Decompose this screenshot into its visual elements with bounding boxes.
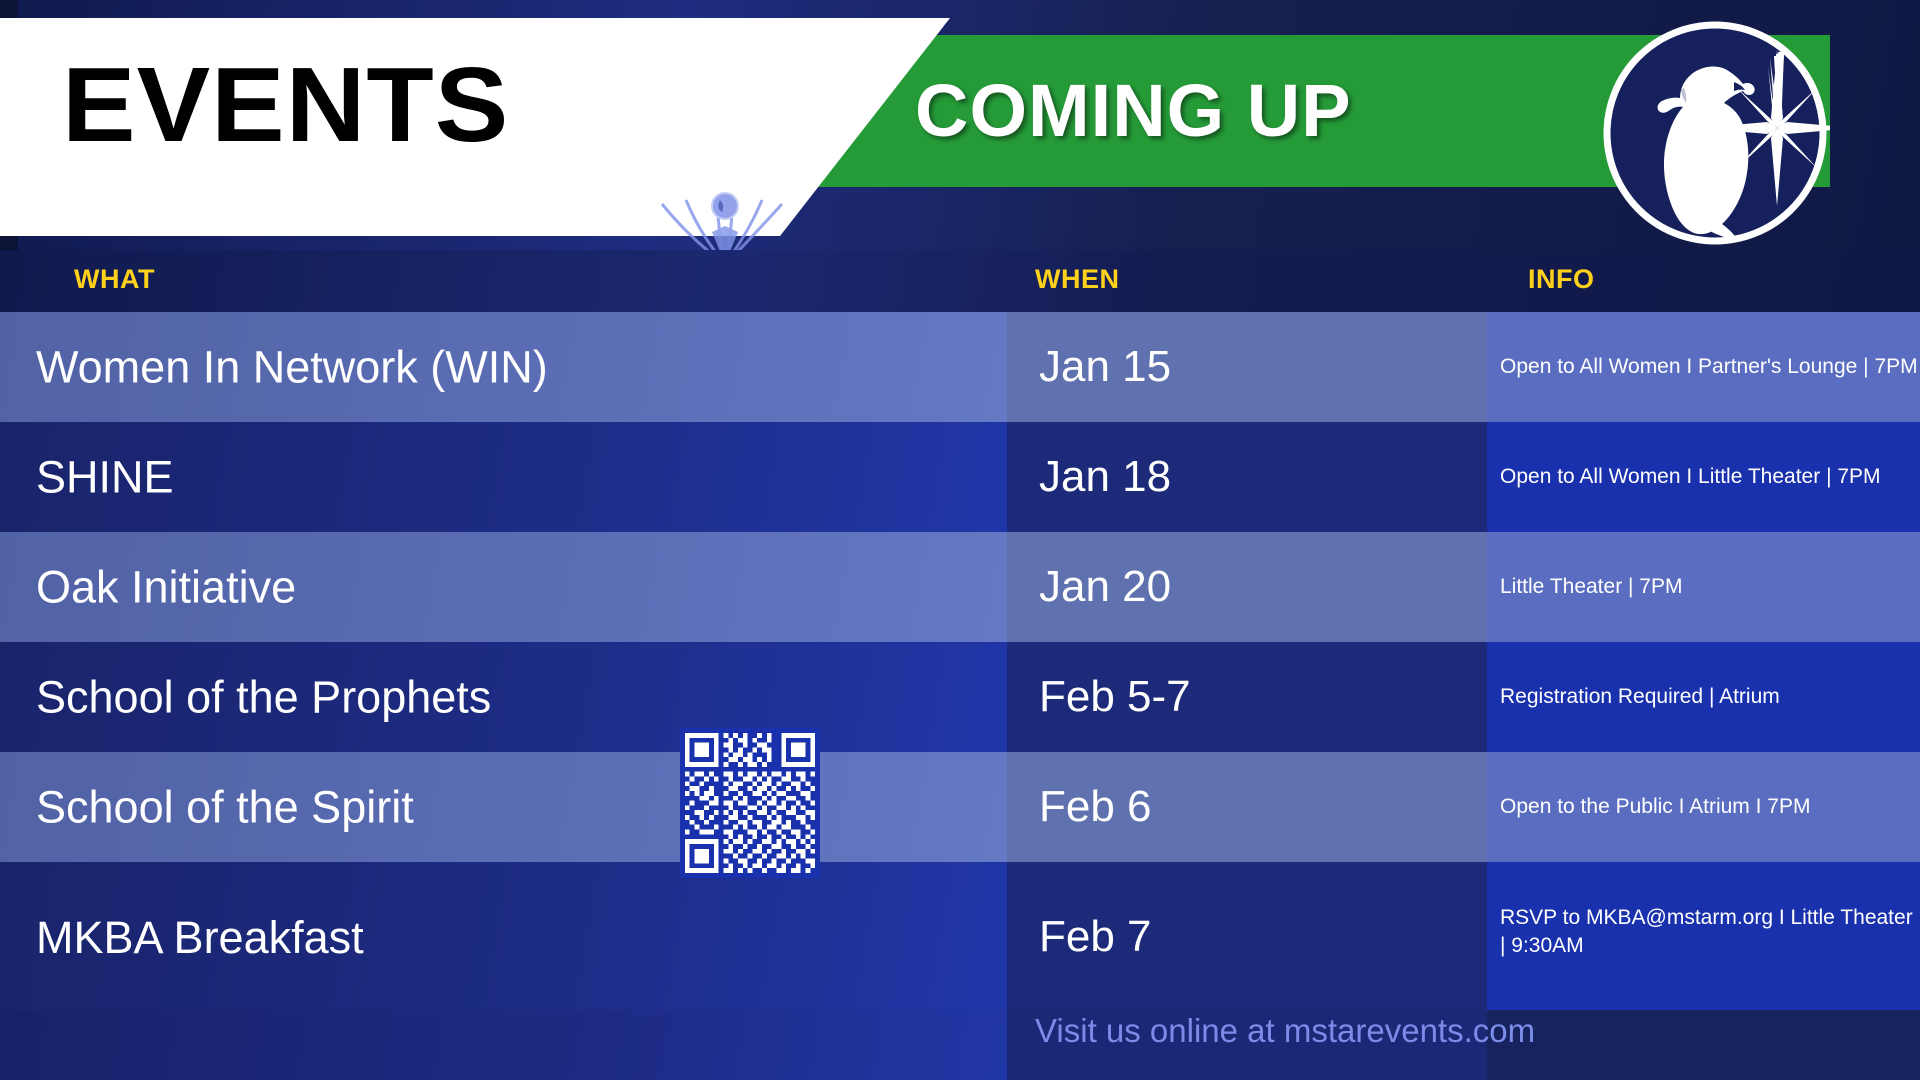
event-date: Feb 7 <box>1039 914 1152 960</box>
column-header-what-label: WHAT <box>74 264 155 294</box>
visit-online-text: Visit us online at mstarevents.com <box>1035 1012 1535 1050</box>
cell-info: Open to the Public I Atrium I 7PM <box>1487 752 1920 862</box>
event-name: School of the Prophets <box>36 673 491 720</box>
cell-info: Registration Required | Atrium <box>1487 642 1920 752</box>
cell-info: Little Theater | 7PM <box>1487 532 1920 642</box>
cell-info: Open to All Women I Little Theater | 7PM <box>1487 422 1920 532</box>
table-row[interactable]: Women In Network (WIN) Jan 15 Open to Al… <box>0 312 1920 422</box>
cell-what: Oak Initiative <box>0 532 1007 642</box>
cell-when: Jan 18 <box>1007 422 1487 532</box>
event-date: Jan 15 <box>1039 344 1171 390</box>
column-header-when-label: WHEN <box>1035 264 1120 294</box>
table-header-row: WHAT WHEN INFO <box>0 250 1920 312</box>
footer-bar <box>0 1010 1920 1080</box>
cell-when: Feb 7 <box>1007 862 1487 1010</box>
footer-left <box>0 1010 1007 1080</box>
event-name: SHINE <box>36 453 174 500</box>
cell-when: Jan 15 <box>1007 312 1487 422</box>
event-name: MKBA Breakfast <box>36 914 364 961</box>
column-header-what: WHAT <box>74 264 155 295</box>
table-row[interactable]: MKBA Breakfast Feb 7 RSVP to MKBA@mstarm… <box>0 862 1920 1010</box>
eagle-star-logo-icon <box>1600 18 1830 248</box>
event-date: Feb 5-7 <box>1039 674 1191 720</box>
event-info: Open to All Women I Partner's Lounge | 7… <box>1500 353 1918 381</box>
event-date: Jan 18 <box>1039 454 1171 500</box>
cell-what: School of the Prophets <box>0 642 1007 752</box>
table-row[interactable]: School of the Spirit Feb 6 Open to the P… <box>0 752 1920 862</box>
event-info: Open to the Public I Atrium I 7PM <box>1500 793 1918 821</box>
table-row[interactable]: Oak Initiative Jan 20 Little Theater | 7… <box>0 532 1920 642</box>
event-name: Oak Initiative <box>36 563 296 610</box>
event-name: Women In Network (WIN) <box>36 343 548 390</box>
cell-info: Open to All Women I Partner's Lounge | 7… <box>1487 312 1920 422</box>
footer-right <box>1487 1010 1920 1080</box>
header-banner: EVENTS COMING UP <box>0 0 1920 250</box>
event-info: Registration Required | Atrium <box>1500 683 1918 711</box>
cell-what: Women In Network (WIN) <box>0 312 1007 422</box>
cell-info: RSVP to MKBA@mstarm.org I Little Theater… <box>1487 862 1920 1010</box>
page-title: EVENTS <box>62 52 509 158</box>
slide-root: EVENTS COMING UP <box>0 0 1920 1080</box>
column-header-info: INFO <box>1528 264 1595 295</box>
event-info: RSVP to MKBA@mstarm.org I Little Theater… <box>1500 904 1918 959</box>
cell-when: Feb 5-7 <box>1007 642 1487 752</box>
column-header-when: WHEN <box>1035 264 1120 295</box>
column-header-info-label: INFO <box>1528 264 1595 294</box>
cell-when: Jan 20 <box>1007 532 1487 642</box>
cell-what: SHINE <box>0 422 1007 532</box>
qr-code-icon[interactable] <box>680 728 820 878</box>
cell-when: Feb 6 <box>1007 752 1487 862</box>
table-row[interactable]: School of the Prophets Feb 5-7 Registrat… <box>0 642 1920 752</box>
event-date: Jan 20 <box>1039 564 1171 610</box>
event-info: Open to All Women I Little Theater | 7PM <box>1500 463 1918 491</box>
event-date: Feb 6 <box>1039 784 1152 830</box>
cell-what: School of the Spirit <box>0 752 1007 862</box>
event-info: Little Theater | 7PM <box>1500 573 1918 601</box>
event-name: School of the Spirit <box>36 783 414 830</box>
coming-up-title: COMING UP <box>915 74 1352 148</box>
events-table: WHAT WHEN INFO Women In Network (WIN) Ja… <box>0 250 1920 1080</box>
cell-what: MKBA Breakfast <box>0 862 1007 1010</box>
table-row[interactable]: SHINE Jan 18 Open to All Women I Little … <box>0 422 1920 532</box>
